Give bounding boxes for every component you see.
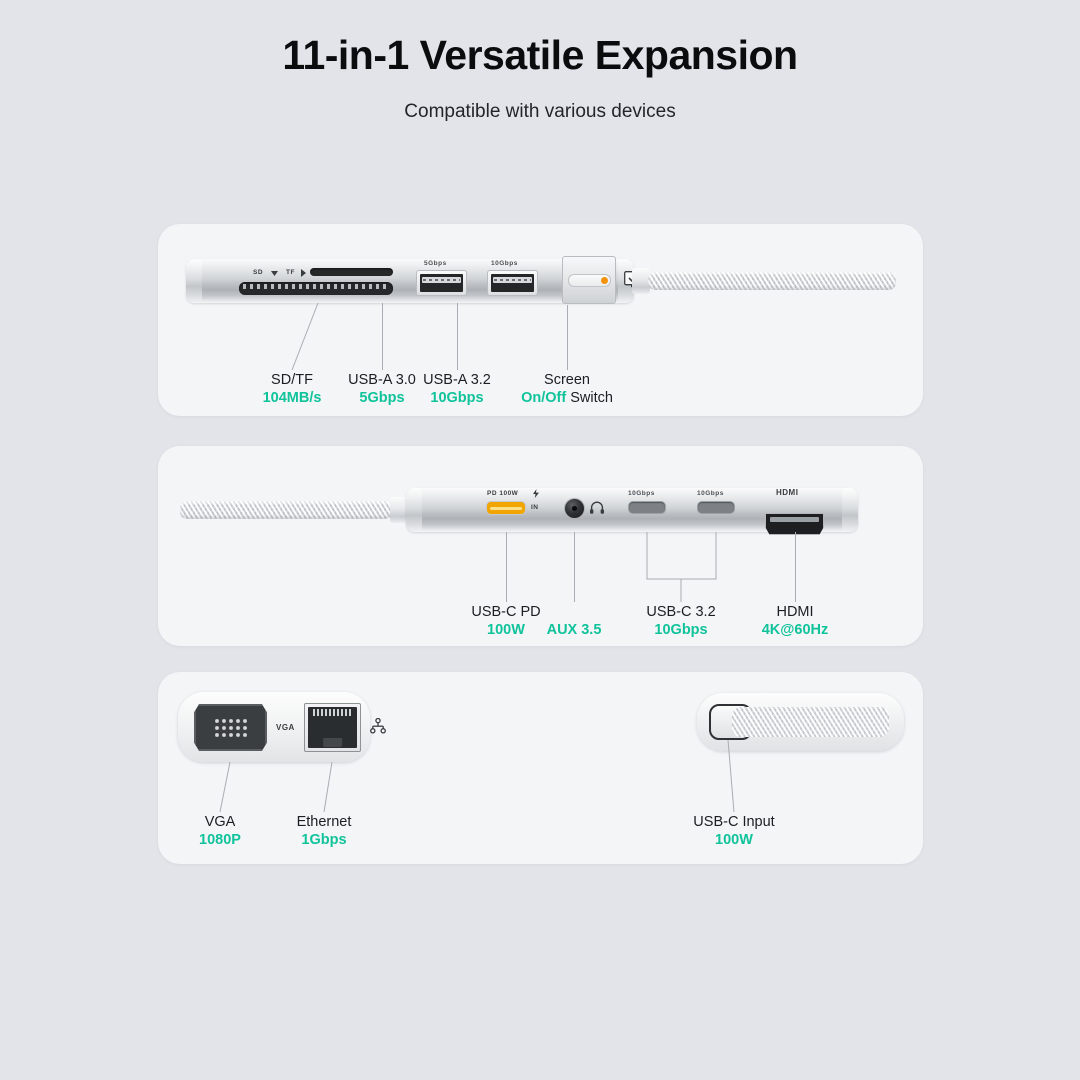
callout-usb-c-3-2-name: USB-C 3.2 [646,604,715,621]
callout-usb-c-input-spec: 100W [693,831,774,849]
callout-usb-c-pd: USB-C PD 100W [471,604,540,639]
callout-ethernet: Ethernet 1Gbps [297,814,352,849]
callout-usb-a-3-2-name: USB-A 3.2 [423,372,491,389]
callout-vga-name: VGA [199,814,241,831]
callout-usb-a-3-2: USB-A 3.2 10Gbps [423,372,491,407]
callout-usb-c-pd-name: USB-C PD [471,604,540,621]
leader-line-usb-a-3-2 [457,303,458,370]
callout-usb-a-3-0-spec: 5Gbps [348,389,416,407]
panel-rear-port-row: PD 100W IN 10Gbps 10Gbps HDMI USB-C PD 1… [158,446,923,646]
callout-usb-c-input-name: USB-C Input [693,814,774,831]
callout-sd-tf: SD/TF 104MB/s [263,372,322,407]
callout-screen-switch-name: Screen [521,372,613,389]
callout-usb-a-3-2-spec: 10Gbps [423,389,491,407]
leader-line-hdmi [795,532,796,602]
callout-screen-switch-spec: On/Off Switch [521,389,613,407]
callout-sd-tf-spec: 104MB/s [263,389,322,407]
panel-front-port-row: SD TF 5Gbps 10Gbps SD/TF [158,224,923,416]
page-header: 11-in-1 Versatile Expansion Compatible w… [0,0,1080,123]
callout-usb-c-3-2: USB-C 3.2 10Gbps [646,604,715,639]
callout-usb-c-input: USB-C Input 100W [693,814,774,849]
callout-screen-switch: Screen On/Off Switch [521,372,613,407]
page-subtitle: Compatible with various devices [0,101,1080,123]
panel-end-face-and-plug: VGA VGA 1080P Ethernet 1Gbps USB-C Input… [158,672,923,864]
page-title: 11-in-1 Versatile Expansion [0,32,1080,79]
callout-ethernet-spec: 1Gbps [297,831,352,849]
callout-sd-tf-name: SD/TF [263,372,322,389]
callout-hdmi-name: HDMI [762,604,829,621]
callout-usb-a-3-0: USB-A 3.0 5Gbps [348,372,416,407]
callout-usb-c-3-2-spec: 10Gbps [646,621,715,639]
leader-line-vga [158,672,923,864]
callout-hdmi: HDMI 4K@60Hz [762,604,829,639]
callout-vga-spec: 1080P [199,831,241,849]
callout-usb-c-pd-spec: 100W [471,621,540,639]
callout-usb-a-3-0-name: USB-A 3.0 [348,372,416,389]
leader-line-screen-switch [567,305,568,370]
callout-hdmi-spec: 4K@60Hz [762,621,829,639]
callout-aux-spec: AUX 3.5 [547,604,602,639]
leader-line-usb-a-3-0 [382,303,383,370]
callout-ethernet-name: Ethernet [297,814,352,831]
callout-aux: AUX 3.5 [547,604,602,639]
callout-vga: VGA 1080P [199,814,241,849]
